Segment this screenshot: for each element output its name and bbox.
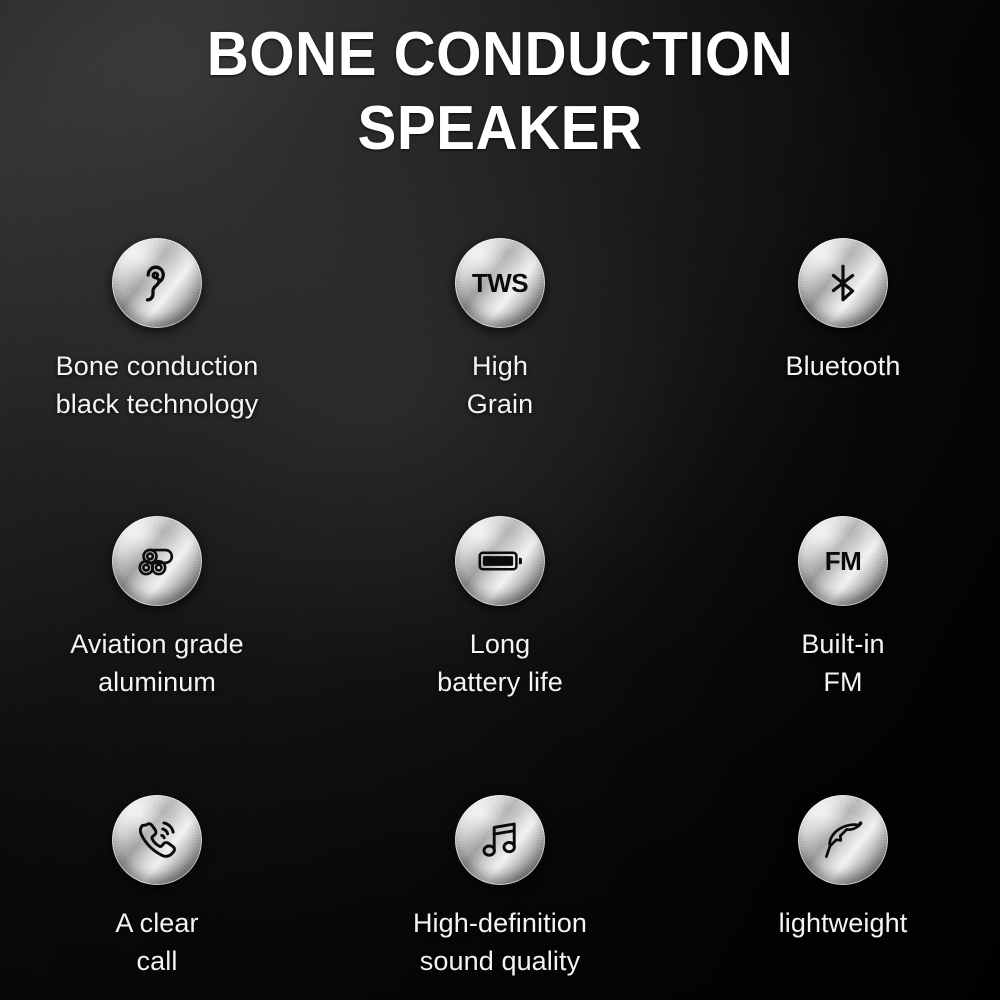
feature-label: lightweight (683, 904, 1000, 942)
feature-label-line-2: battery life (340, 663, 660, 701)
feature-item-bone-conduction: Bone conduction black technology (0, 238, 317, 423)
metallic-disc (112, 516, 202, 606)
feature-label: Long battery life (340, 625, 660, 701)
feature-item-clear-call: A clear call (0, 795, 317, 980)
title-line-1: BONE CONDUCTION (30, 18, 970, 92)
feature-label-line-1: High (340, 347, 660, 385)
battery-full-icon (455, 516, 545, 606)
feature-label-line-1: Bone conduction (0, 347, 317, 385)
metallic-disc: FM (798, 516, 888, 606)
icon-disc (112, 238, 202, 328)
metallic-disc (112, 238, 202, 328)
feature-label-line-1: Long (340, 625, 660, 663)
feature-label-line-2: black technology (0, 385, 317, 423)
feature-item-aviation-aluminum: Aviation grade aluminum (0, 516, 317, 701)
feature-item-battery-life: Long battery life (340, 516, 660, 701)
icon-disc: FM (798, 516, 888, 606)
feature-label: Built-in FM (683, 625, 1000, 701)
feature-label-line-2: Grain (340, 385, 660, 423)
feature-label-line-2: FM (683, 663, 1000, 701)
icon-disc (798, 238, 888, 328)
feature-label-line-2: sound quality (340, 942, 660, 980)
feature-label: High-definition sound quality (340, 904, 660, 980)
fm-icon: FM (798, 516, 888, 606)
feature-label-line-2: aluminum (0, 663, 317, 701)
metallic-disc (798, 238, 888, 328)
bluetooth-icon (798, 238, 888, 328)
product-feature-infographic: BONE CONDUCTION SPEAKER Bone conductio (0, 0, 1000, 1000)
music-note-icon (455, 795, 545, 885)
aluminum-tubes-icon (112, 516, 202, 606)
page-title: BONE CONDUCTION SPEAKER (0, 18, 1000, 166)
ear-icon (112, 238, 202, 328)
feature-item-high-grain: TWS High Grain (340, 238, 660, 423)
icon-disc (798, 795, 888, 885)
feature-item-lightweight: lightweight (683, 795, 1000, 942)
feature-label-line-2: call (0, 942, 317, 980)
feature-label-line-1: Built-in (683, 625, 1000, 663)
icon-disc (112, 516, 202, 606)
feature-label-line-1: High-definition (340, 904, 660, 942)
icon-disc (112, 795, 202, 885)
icon-disc: TWS (455, 238, 545, 328)
phone-call-icon (112, 795, 202, 885)
feature-label: High Grain (340, 347, 660, 423)
feature-item-bluetooth: Bluetooth (683, 238, 1000, 385)
feature-label: Aviation grade aluminum (0, 625, 317, 701)
icon-disc (455, 516, 545, 606)
feature-label: Bluetooth (683, 347, 1000, 385)
title-line-2: SPEAKER (30, 92, 970, 166)
feature-label-line-1: A clear (0, 904, 317, 942)
metallic-disc (455, 795, 545, 885)
metallic-disc: TWS (455, 238, 545, 328)
metallic-disc (112, 795, 202, 885)
feature-item-sound-quality: High-definition sound quality (340, 795, 660, 980)
feature-label-line-1: Aviation grade (0, 625, 317, 663)
metallic-disc (455, 516, 545, 606)
tws-icon: TWS (455, 238, 545, 328)
feature-label-line-1: Bluetooth (683, 347, 1000, 385)
icon-disc (455, 795, 545, 885)
feature-label: A clear call (0, 904, 317, 980)
fm-label: FM (825, 548, 862, 574)
feature-item-built-in-fm: FM Built-in FM (683, 516, 1000, 701)
feature-grid: Bone conduction black technology TWS Hig… (0, 230, 1000, 990)
metallic-disc (798, 795, 888, 885)
tws-label: TWS (472, 270, 528, 296)
feature-label-line-1: lightweight (683, 904, 1000, 942)
feather-icon (798, 795, 888, 885)
feature-label: Bone conduction black technology (0, 347, 317, 423)
